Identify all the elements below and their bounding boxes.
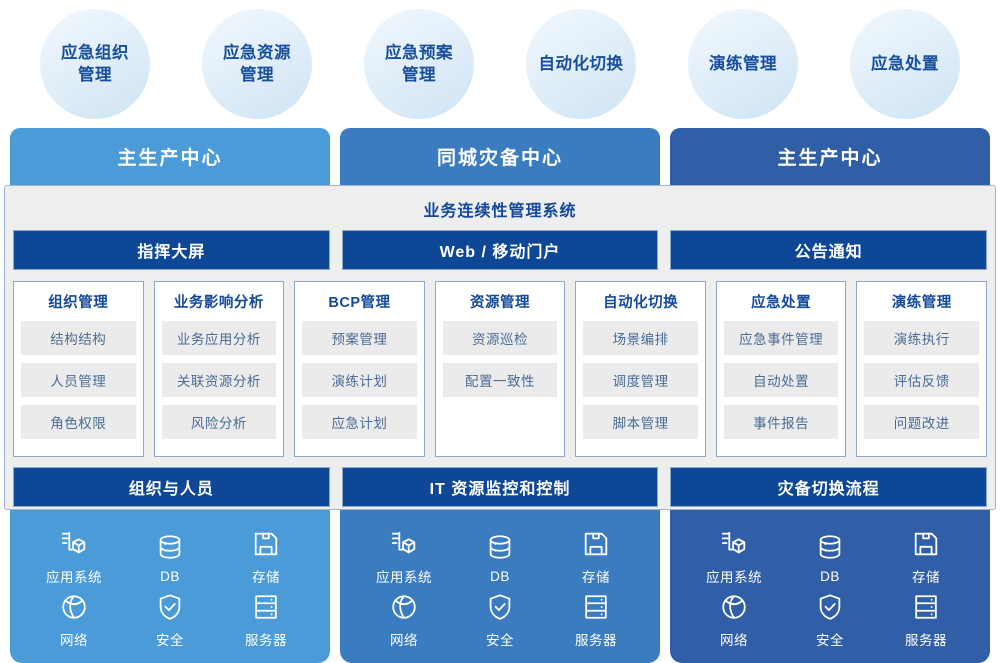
infrastructure-item[interactable]: 存储: [548, 529, 644, 586]
module-card-item[interactable]: 评估反馈: [864, 363, 979, 397]
portal-band-item[interactable]: Web / 移动门户: [342, 230, 659, 270]
infrastructure-item-label: 安全: [816, 629, 844, 649]
network-icon: [389, 592, 419, 622]
infrastructure-icon-grid: 应用系统DB存储网络安全服务器: [670, 515, 990, 663]
infrastructure-item[interactable]: 服务器: [878, 592, 974, 649]
infrastructure-item[interactable]: 服务器: [218, 592, 314, 649]
infrastructure-item-label: 存储: [252, 566, 280, 586]
module-card-title: 自动化切换: [583, 291, 698, 321]
infrastructure-item[interactable]: 网络: [686, 592, 782, 649]
module-card: 业务影响分析业务应用分析关联资源分析风险分析: [154, 281, 285, 457]
infrastructure-item-label: 应用系统: [46, 566, 102, 586]
application-system-icon: [59, 529, 89, 559]
module-card-item[interactable]: 演练执行: [864, 321, 979, 355]
module-card: 组织管理结构结构人员管理角色权限: [13, 281, 144, 457]
infrastructure-item[interactable]: 存储: [218, 529, 314, 586]
module-card-item[interactable]: 应急计划: [302, 405, 417, 439]
module-cards-row: 组织管理结构结构人员管理角色权限业务影响分析业务应用分析关联资源分析风险分析BC…: [13, 270, 987, 467]
capability-bubble[interactable]: 应急组织管理: [40, 9, 150, 119]
process-band-item[interactable]: 组织与人员: [13, 467, 330, 507]
infrastructure-item-label: 服务器: [575, 629, 617, 649]
process-band-item[interactable]: 灾备切换流程: [670, 467, 987, 507]
module-card-item[interactable]: 问题改进: [864, 405, 979, 439]
module-card-title: 演练管理: [864, 291, 979, 321]
infrastructure-item[interactable]: 安全: [122, 592, 218, 649]
infrastructure-item[interactable]: DB: [122, 529, 218, 586]
infrastructure-item[interactable]: 网络: [26, 592, 122, 649]
capability-bubble[interactable]: 应急处置: [850, 9, 960, 119]
module-card-title: 业务影响分析: [162, 291, 277, 321]
database-icon: [155, 532, 185, 562]
infrastructure-item-label: 安全: [156, 629, 184, 649]
capability-bubble[interactable]: 应急资源管理: [202, 9, 312, 119]
infrastructure-item-label: 网络: [390, 629, 418, 649]
module-card-item[interactable]: 应急事件管理: [724, 321, 839, 355]
module-card: 资源管理资源巡检配置一致性: [435, 281, 566, 457]
capability-bubble-label: 应急预案管理: [377, 42, 461, 87]
module-card: BCP管理预案管理演练计划应急计划: [294, 281, 425, 457]
module-card-title: 应急处置: [724, 291, 839, 321]
module-card-item[interactable]: 事件报告: [724, 405, 839, 439]
datacenter-title: 同城灾备中心: [340, 128, 660, 184]
infrastructure-item[interactable]: 存储: [878, 529, 974, 586]
capability-bubble-row: 应急组织管理应急资源管理应急预案管理自动化切换演练管理应急处置: [0, 0, 1000, 128]
infrastructure-item-label: DB: [160, 569, 180, 584]
storage-icon: [581, 529, 611, 559]
infrastructure-item[interactable]: 网络: [356, 592, 452, 649]
module-card-item[interactable]: 调度管理: [583, 363, 698, 397]
bcm-system-panel: 业务连续性管理系统 指挥大屏Web / 移动门户公告通知 组织管理结构结构人员管…: [4, 185, 996, 510]
module-card: 应急处置应急事件管理自动处置事件报告: [716, 281, 847, 457]
storage-icon: [911, 529, 941, 559]
application-system-icon: [719, 529, 749, 559]
infrastructure-item[interactable]: 应用系统: [356, 529, 452, 586]
security-shield-icon: [815, 592, 845, 622]
module-card-item[interactable]: 关联资源分析: [162, 363, 277, 397]
infrastructure-item-label: 服务器: [905, 629, 947, 649]
datacenter-title: 主生产中心: [10, 128, 330, 184]
capability-bubble-label: 自动化切换: [531, 53, 632, 75]
infrastructure-icon-grid: 应用系统DB存储网络安全服务器: [10, 515, 330, 663]
module-card-item[interactable]: 预案管理: [302, 321, 417, 355]
capability-bubble[interactable]: 自动化切换: [526, 9, 636, 119]
database-icon: [485, 532, 515, 562]
module-card-item[interactable]: 自动处置: [724, 363, 839, 397]
datacenter-title: 主生产中心: [670, 128, 990, 184]
server-rack-icon: [251, 592, 281, 622]
capability-bubble-label: 应急处置: [863, 53, 947, 75]
portal-band: 指挥大屏Web / 移动门户公告通知: [13, 230, 987, 270]
module-card-item[interactable]: 结构结构: [21, 321, 136, 355]
infrastructure-item[interactable]: 安全: [452, 592, 548, 649]
security-shield-icon: [485, 592, 515, 622]
infrastructure-item-label: DB: [490, 569, 510, 584]
module-card-item[interactable]: 业务应用分析: [162, 321, 277, 355]
infrastructure-item-label: 存储: [912, 566, 940, 586]
infrastructure-item-label: 应用系统: [376, 566, 432, 586]
module-card-item[interactable]: 人员管理: [21, 363, 136, 397]
module-card-title: 组织管理: [21, 291, 136, 321]
infrastructure-item-label: 应用系统: [706, 566, 762, 586]
bcm-system-title: 业务连续性管理系统: [13, 193, 987, 230]
security-shield-icon: [155, 592, 185, 622]
infrastructure-item[interactable]: 安全: [782, 592, 878, 649]
server-rack-icon: [581, 592, 611, 622]
infrastructure-item-label: 存储: [582, 566, 610, 586]
module-card-item[interactable]: 脚本管理: [583, 405, 698, 439]
module-card-title: BCP管理: [302, 291, 417, 321]
infrastructure-item[interactable]: DB: [782, 529, 878, 586]
infrastructure-item-label: DB: [820, 569, 840, 584]
application-system-icon: [389, 529, 419, 559]
infrastructure-item[interactable]: DB: [452, 529, 548, 586]
database-icon: [815, 532, 845, 562]
module-card-title: 资源管理: [443, 291, 558, 321]
capability-bubble[interactable]: 演练管理: [688, 9, 798, 119]
storage-icon: [251, 529, 281, 559]
module-card-item[interactable]: 资源巡检: [443, 321, 558, 355]
module-card-item[interactable]: 场景编排: [583, 321, 698, 355]
portal-band-item[interactable]: 指挥大屏: [13, 230, 330, 270]
network-icon: [719, 592, 749, 622]
capability-bubble-label: 应急资源管理: [215, 42, 299, 87]
infrastructure-item[interactable]: 应用系统: [686, 529, 782, 586]
infrastructure-item[interactable]: 应用系统: [26, 529, 122, 586]
module-card-item[interactable]: 风险分析: [162, 405, 277, 439]
process-band: 组织与人员IT 资源监控和控制灾备切换流程: [13, 467, 987, 507]
module-card-item[interactable]: 演练计划: [302, 363, 417, 397]
infrastructure-item-label: 服务器: [245, 629, 287, 649]
module-card-item[interactable]: 配置一致性: [443, 363, 558, 397]
process-band-item[interactable]: IT 资源监控和控制: [342, 467, 659, 507]
module-card-item[interactable]: 角色权限: [21, 405, 136, 439]
capability-bubble[interactable]: 应急预案管理: [364, 9, 474, 119]
portal-band-item[interactable]: 公告通知: [670, 230, 987, 270]
infrastructure-item-label: 安全: [486, 629, 514, 649]
infrastructure-icon-grid: 应用系统DB存储网络安全服务器: [340, 515, 660, 663]
network-icon: [59, 592, 89, 622]
capability-bubble-label: 应急组织管理: [53, 42, 137, 87]
module-card: 演练管理演练执行评估反馈问题改进: [856, 281, 987, 457]
server-rack-icon: [911, 592, 941, 622]
infrastructure-item-label: 网络: [60, 629, 88, 649]
infrastructure-item[interactable]: 服务器: [548, 592, 644, 649]
capability-bubble-label: 演练管理: [701, 53, 785, 75]
infrastructure-item-label: 网络: [720, 629, 748, 649]
module-card: 自动化切换场景编排调度管理脚本管理: [575, 281, 706, 457]
